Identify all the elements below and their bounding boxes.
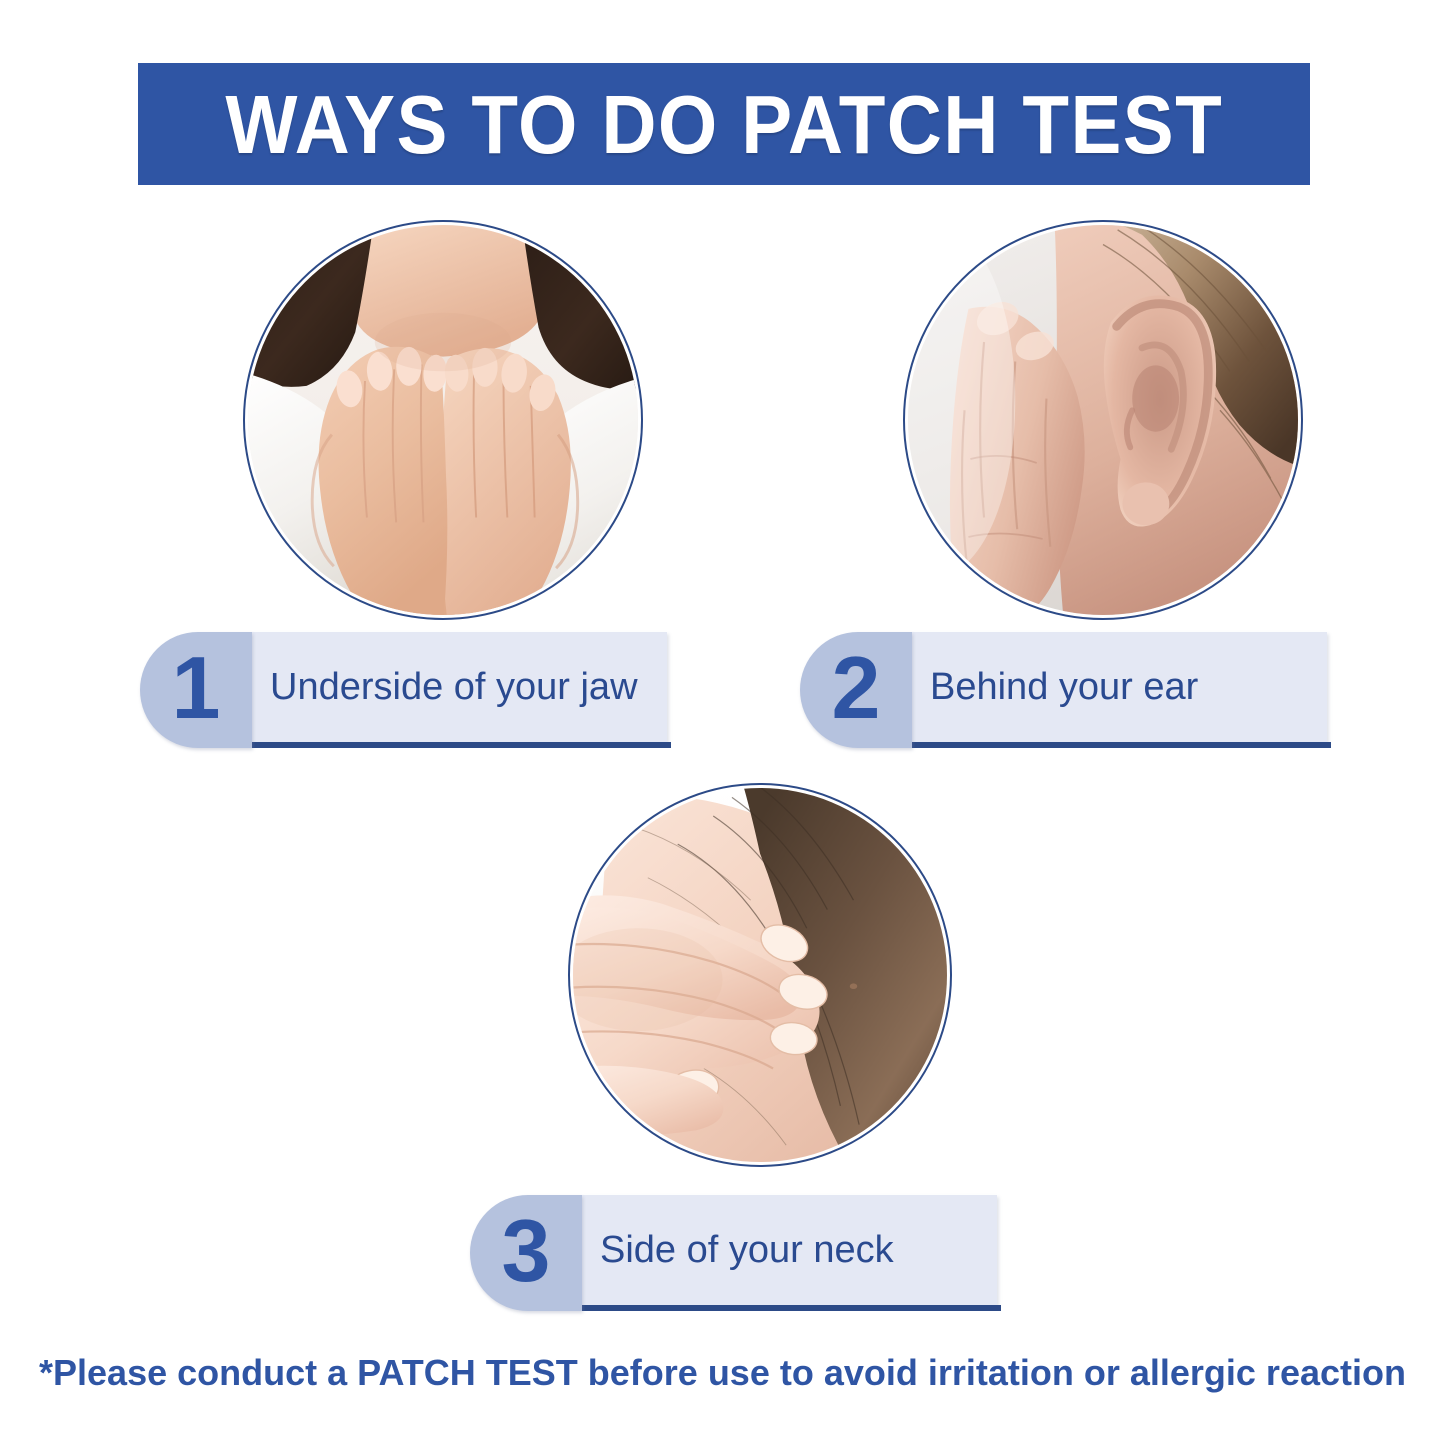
step-3-photo-circle: [568, 783, 952, 1167]
step-2-number-badge: 2: [800, 632, 912, 748]
step-2-label-bar: 2 Behind your ear: [800, 632, 1327, 748]
step-2-bar-underline: [910, 742, 1331, 748]
step-3-bar-underline: [580, 1305, 1001, 1311]
step-3-number-badge: 3: [470, 1195, 582, 1311]
step-1-label-text: Underside of your jaw: [270, 632, 657, 742]
step-1-number: 1: [172, 644, 221, 732]
step-1-photo-circle: [243, 220, 643, 620]
step-1-number-badge: 1: [140, 632, 252, 748]
step-3-label-bar: 3 Side of your neck: [470, 1195, 997, 1311]
step-2-label-text: Behind your ear: [930, 632, 1317, 742]
step-1-bar-underline: [250, 742, 671, 748]
page-title: WAYS TO DO PATCH TEST: [225, 83, 1223, 166]
step-3-label-text: Side of your neck: [600, 1195, 987, 1305]
step-2-number: 2: [832, 644, 881, 732]
step-1-label-bar: 1 Underside of your jaw: [140, 632, 667, 748]
step-2-photo-circle: [903, 220, 1303, 620]
step-3-number: 3: [502, 1207, 551, 1295]
infographic-canvas: WAYS TO DO PATCH TEST: [0, 0, 1445, 1445]
header-banner: WAYS TO DO PATCH TEST: [138, 63, 1310, 185]
hand-behind-ear-photo: [908, 225, 1298, 615]
patch-test-disclaimer: *Please conduct a PATCH TEST before use …: [0, 1352, 1445, 1394]
woman-hands-on-jaw-photo: [248, 225, 638, 615]
hand-on-side-of-neck-photo: [573, 788, 947, 1162]
